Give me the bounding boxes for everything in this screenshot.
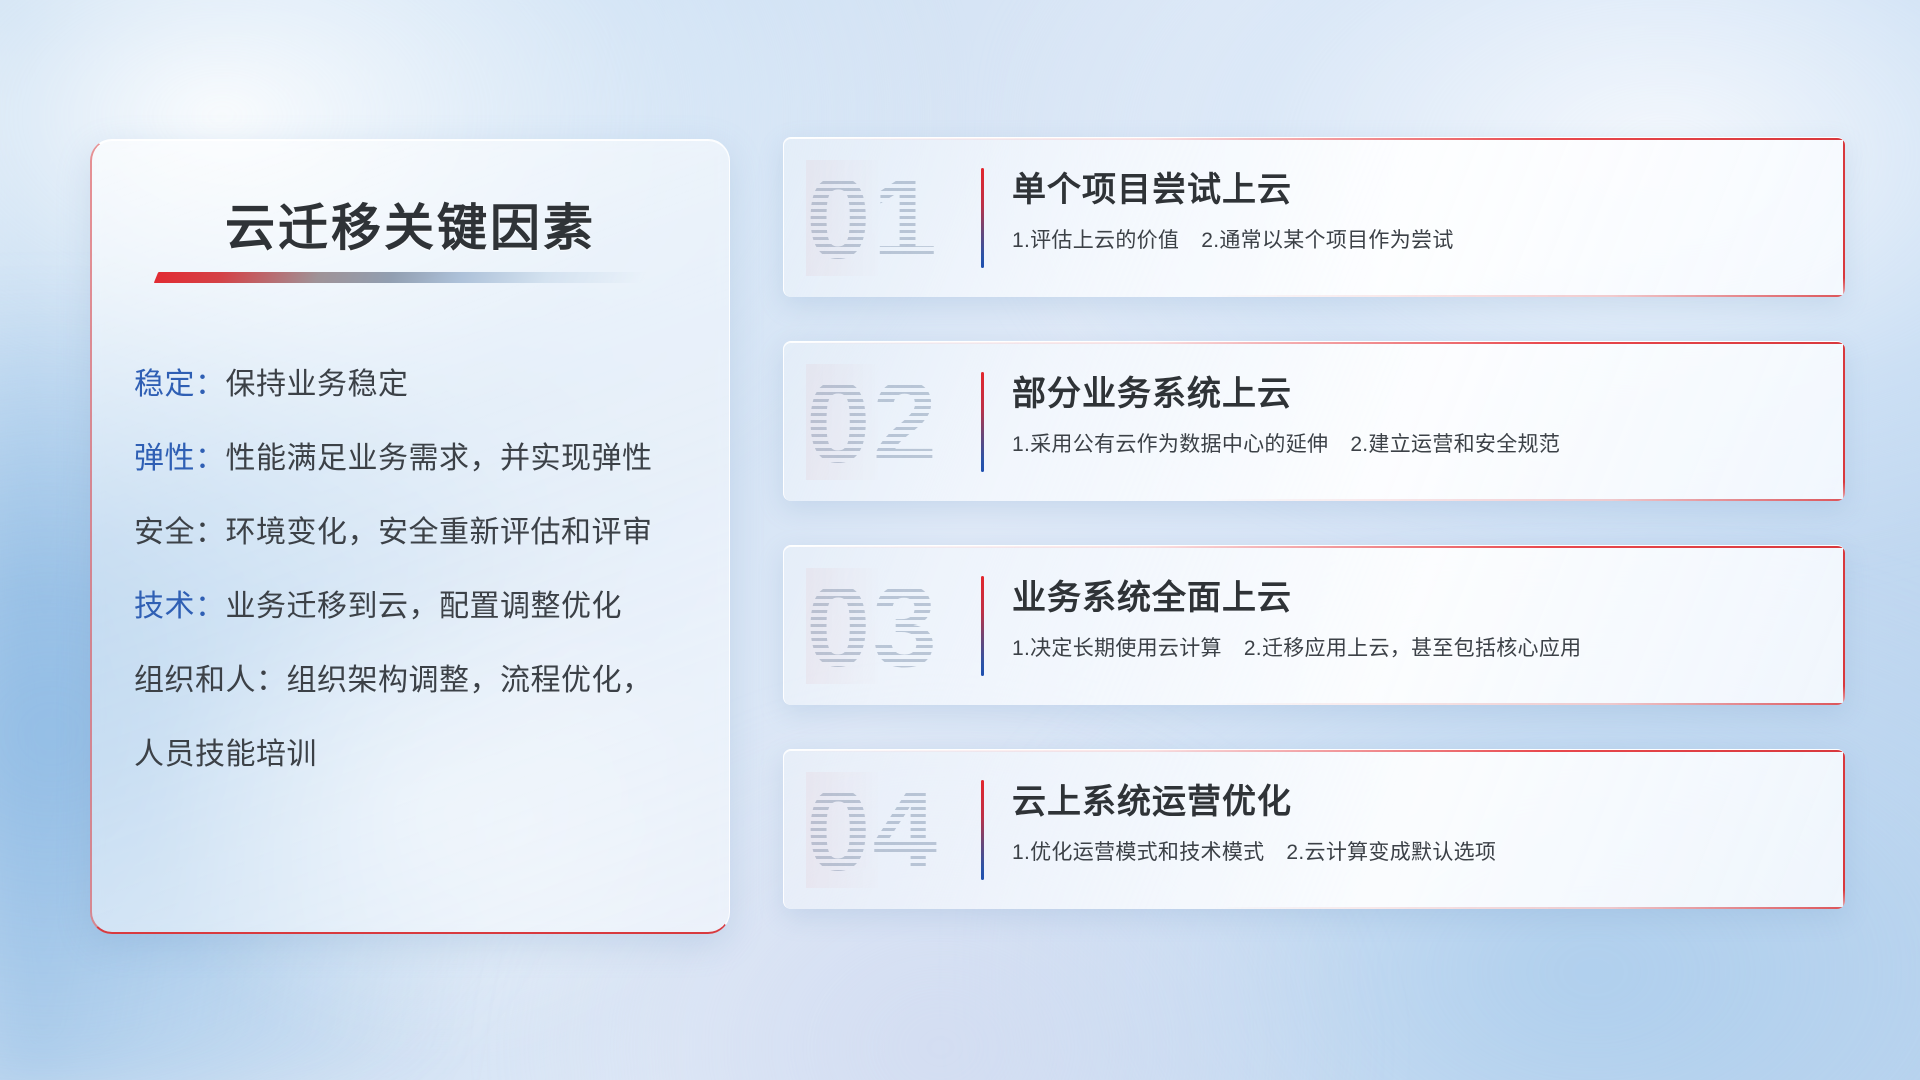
card-accent-bar [981,576,984,676]
card-body: 部分业务系统上云1.采用公有云作为数据中心的延伸2.建立运营和安全规范 [1012,370,1817,460]
card-bottom-accent [784,907,1845,909]
card-point-2: 2.迁移应用上云，甚至包括核心应用 [1244,637,1582,660]
key-factor-text: 性能满足业务需求，并实现弹性 [226,442,653,475]
key-factor-label: 安全： [134,516,226,549]
card-accent-bar [981,780,984,880]
card-accent-bar [981,168,984,268]
key-factor-line: 人员技能培训 [134,718,697,792]
card-top-accent [784,546,1845,548]
card-bottom-accent [784,295,1845,297]
card-top-accent [784,342,1845,344]
key-factors-panel: 云迁移关键因素 稳定：保持业务稳定弹性：性能满足业务需求，并实现弹性安全：环境变… [90,139,730,934]
card-bottom-accent [784,499,1845,501]
card-point-2: 2.通常以某个项目作为尝试 [1201,229,1453,252]
card-right-accent [1843,138,1845,297]
card-title: 单个项目尝试上云 [1012,166,1817,214]
key-factor-line: 弹性：性能满足业务需求，并实现弹性 [134,422,697,496]
card-subtitle: 1.决定长期使用云计算2.迁移应用上云，甚至包括核心应用 [1012,634,1817,664]
key-factor-line: 技术：业务迁移到云，配置调整优化 [134,570,697,644]
key-factor-label: 稳定： [134,368,226,401]
card-body: 业务系统全面上云1.决定长期使用云计算2.迁移应用上云，甚至包括核心应用 [1012,574,1817,664]
key-factor-label: 弹性： [134,442,226,475]
card-point-2: 2.云计算变成默认选项 [1286,841,1496,864]
stage-card[interactable]: 04云上系统运营优化1.优化运营模式和技术模式2.云计算变成默认选项 [783,749,1845,909]
stage-card[interactable]: 02部分业务系统上云1.采用公有云作为数据中心的延伸2.建立运营和安全规范 [783,341,1845,501]
card-bottom-accent [784,703,1845,705]
card-point-1: 1.优化运营模式和技术模式 [1012,841,1264,864]
card-subtitle: 1.优化运营模式和技术模式2.云计算变成默认选项 [1012,838,1817,868]
key-factor-label: 组织和人： [134,664,287,697]
key-factor-text: 人员技能培训 [134,738,317,771]
key-factor-line: 稳定：保持业务稳定 [134,348,697,422]
stage-card[interactable]: 03业务系统全面上云1.决定长期使用云计算2.迁移应用上云，甚至包括核心应用 [783,545,1845,705]
stage-number-watermark: 02 [806,364,939,480]
card-point-1: 1.采用公有云作为数据中心的延伸 [1012,433,1328,456]
stage-number-watermark: 01 [806,160,939,276]
card-right-accent [1843,342,1845,501]
key-factor-text: 保持业务稳定 [226,368,409,401]
card-right-accent [1843,546,1845,705]
card-title: 部分业务系统上云 [1012,370,1817,418]
card-point-2: 2.建立运营和安全规范 [1350,433,1560,456]
card-body: 云上系统运营优化1.优化运营模式和技术模式2.云计算变成默认选项 [1012,778,1817,868]
key-factor-label: 技术： [134,590,226,623]
card-point-1: 1.决定长期使用云计算 [1012,637,1222,660]
card-top-accent [784,750,1845,752]
stage-card[interactable]: 01单个项目尝试上云1.评估上云的价值2.通常以某个项目作为尝试 [783,137,1845,297]
card-title: 云上系统运营优化 [1012,778,1817,826]
card-top-accent [784,138,1845,140]
key-factors-list: 稳定：保持业务稳定弹性：性能满足业务需求，并实现弹性安全：环境变化，安全重新评估… [134,348,697,792]
stage-number-watermark: 04 [806,772,939,888]
slide-content: 云迁移关键因素 稳定：保持业务稳定弹性：性能满足业务需求，并实现弹性安全：环境变… [0,0,1920,1080]
key-factor-text: 组织架构调整，流程优化， [287,664,653,697]
key-factor-text: 业务迁移到云，配置调整优化 [226,590,623,623]
card-point-1: 1.评估上云的价值 [1012,229,1179,252]
card-subtitle: 1.评估上云的价值2.通常以某个项目作为尝试 [1012,226,1817,256]
key-factor-text: 环境变化，安全重新评估和评审 [226,516,653,549]
card-subtitle: 1.采用公有云作为数据中心的延伸2.建立运营和安全规范 [1012,430,1817,460]
key-factor-line: 组织和人：组织架构调整，流程优化， [134,644,697,718]
title-underline-accent [154,272,648,283]
card-body: 单个项目尝试上云1.评估上云的价值2.通常以某个项目作为尝试 [1012,166,1817,256]
card-accent-bar [981,372,984,472]
page-title: 云迁移关键因素 [92,188,729,260]
key-factor-line: 安全：环境变化，安全重新评估和评审 [134,496,697,570]
card-right-accent [1843,750,1845,909]
stage-card-list: 01单个项目尝试上云1.评估上云的价值2.通常以某个项目作为尝试02部分业务系统… [783,137,1845,953]
stage-number-watermark: 03 [806,568,939,684]
card-title: 业务系统全面上云 [1012,574,1817,622]
